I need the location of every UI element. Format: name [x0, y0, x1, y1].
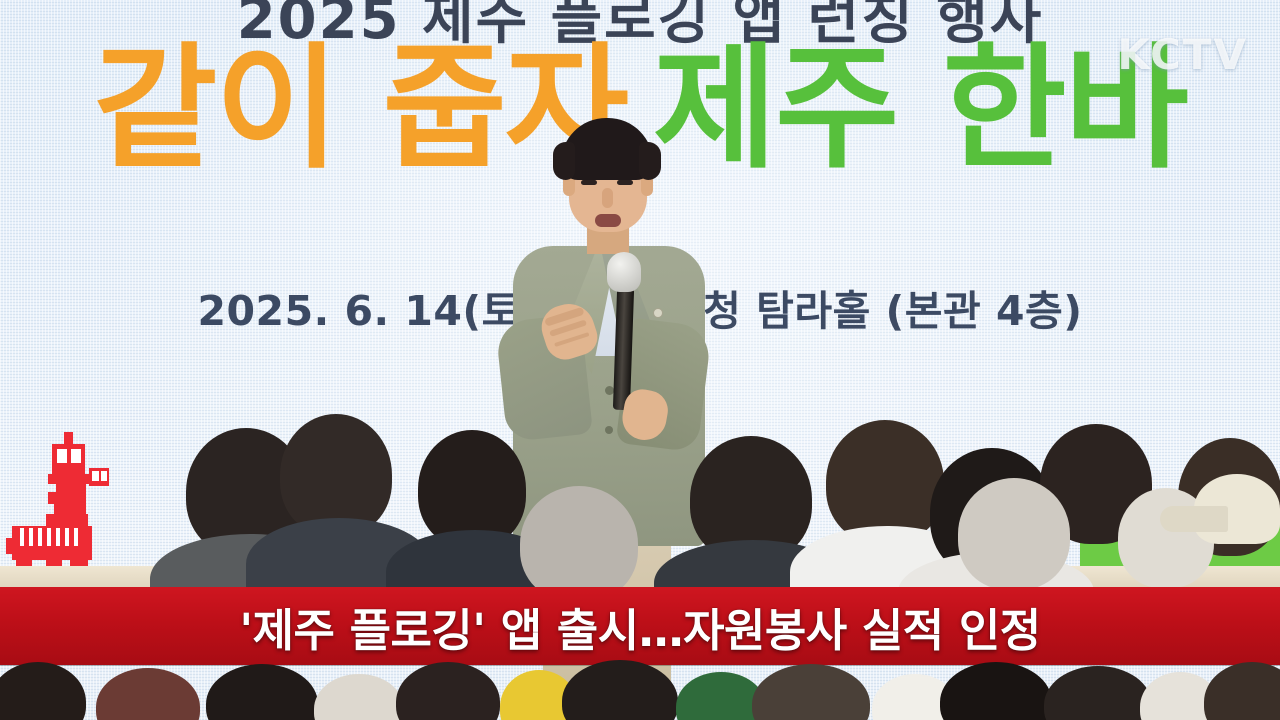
lower-third-banner: '제주 플로깅' 앱 출시…자원봉사 실적 인정	[0, 587, 1280, 665]
lower-third-headline: '제주 플로깅' 앱 출시…자원봉사 실적 인정	[239, 594, 1040, 659]
cap-brim	[1160, 506, 1228, 532]
broadcast-frame: 2025 제주 플로깅 앱 런칭 행사 같이 줍자제주 한바 2025. 6. …	[0, 0, 1280, 720]
audience-heads-front	[0, 660, 1280, 720]
